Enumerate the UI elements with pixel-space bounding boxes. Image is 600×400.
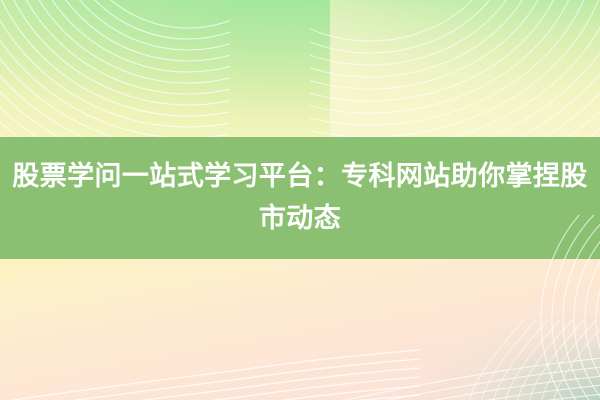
top-right-gradient-wash (330, 0, 600, 137)
headline-band: 股票学问一站式学习平台：专科网站助你掌捏股市动态 (0, 137, 600, 259)
banner-image: 股票学问一站式学习平台：专科网站助你掌捏股市动态 (0, 0, 600, 400)
bottom-right-teal-tint (390, 314, 600, 400)
page-title: 股票学问一站式学习平台：专科网站助你掌捏股市动态 (9, 156, 591, 240)
